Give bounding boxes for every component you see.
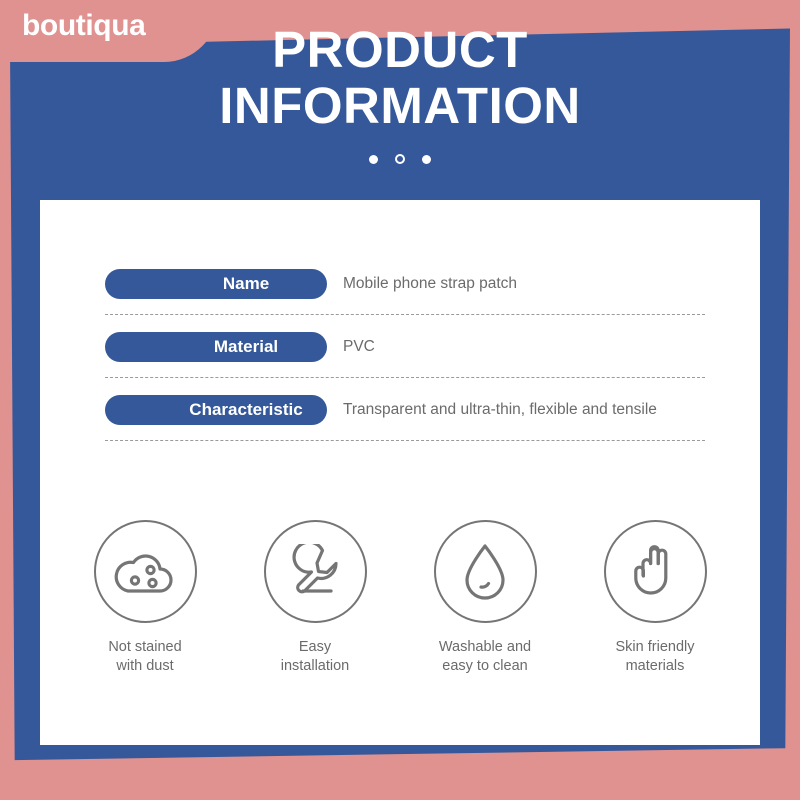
spec-divider-1 — [105, 314, 705, 315]
spec-divider-3 — [105, 440, 705, 441]
dust-cloud-icon — [94, 520, 197, 623]
feature-item-washable: Washable and easy to clean — [410, 520, 560, 676]
water-drop-icon — [434, 520, 537, 623]
spec-table: Name Mobile phone strap patch Material P… — [105, 260, 705, 449]
spec-label-material: Material — [105, 332, 327, 362]
spec-row-name: Name Mobile phone strap patch — [105, 260, 705, 307]
feature-list: Not stained with dust Easy installation — [70, 520, 730, 676]
feature-item-skin-friendly: Skin friendly materials — [580, 520, 730, 676]
product-information-poster: boutiqua PRODUCT INFORMATION Name Mobile… — [0, 0, 800, 800]
carousel-dots — [0, 154, 800, 164]
spec-label-characteristic: Characteristic — [105, 395, 327, 425]
carousel-dot-3[interactable] — [422, 155, 431, 164]
spec-row-material: Material PVC — [105, 323, 705, 370]
carousel-dot-1[interactable] — [369, 155, 378, 164]
page-title: PRODUCT INFORMATION — [0, 22, 800, 134]
wrench-icon — [264, 520, 367, 623]
content-card: Name Mobile phone strap patch Material P… — [40, 200, 760, 745]
spec-value-material: PVC — [343, 338, 375, 356]
spec-value-characteristic: Transparent and ultra-thin, flexible and… — [343, 401, 657, 419]
spec-row-characteristic: Characteristic Transparent and ultra-thi… — [105, 386, 705, 433]
feature-item-not-stained: Not stained with dust — [70, 520, 220, 676]
feature-label-not-stained: Not stained with dust — [108, 638, 181, 676]
poster-header: PRODUCT INFORMATION — [0, 22, 800, 164]
hand-palm-icon — [604, 520, 707, 623]
feature-label-washable: Washable and easy to clean — [439, 638, 531, 676]
spec-value-name: Mobile phone strap patch — [343, 275, 517, 293]
feature-label-skin-friendly: Skin friendly materials — [616, 638, 695, 676]
page-title-line-2: INFORMATION — [0, 78, 800, 134]
feature-label-easy-installation: Easy installation — [281, 638, 350, 676]
spec-divider-2 — [105, 377, 705, 378]
spec-label-name: Name — [105, 269, 327, 299]
feature-item-easy-installation: Easy installation — [240, 520, 390, 676]
page-title-line-1: PRODUCT — [0, 22, 800, 78]
carousel-dot-2[interactable] — [395, 154, 405, 164]
